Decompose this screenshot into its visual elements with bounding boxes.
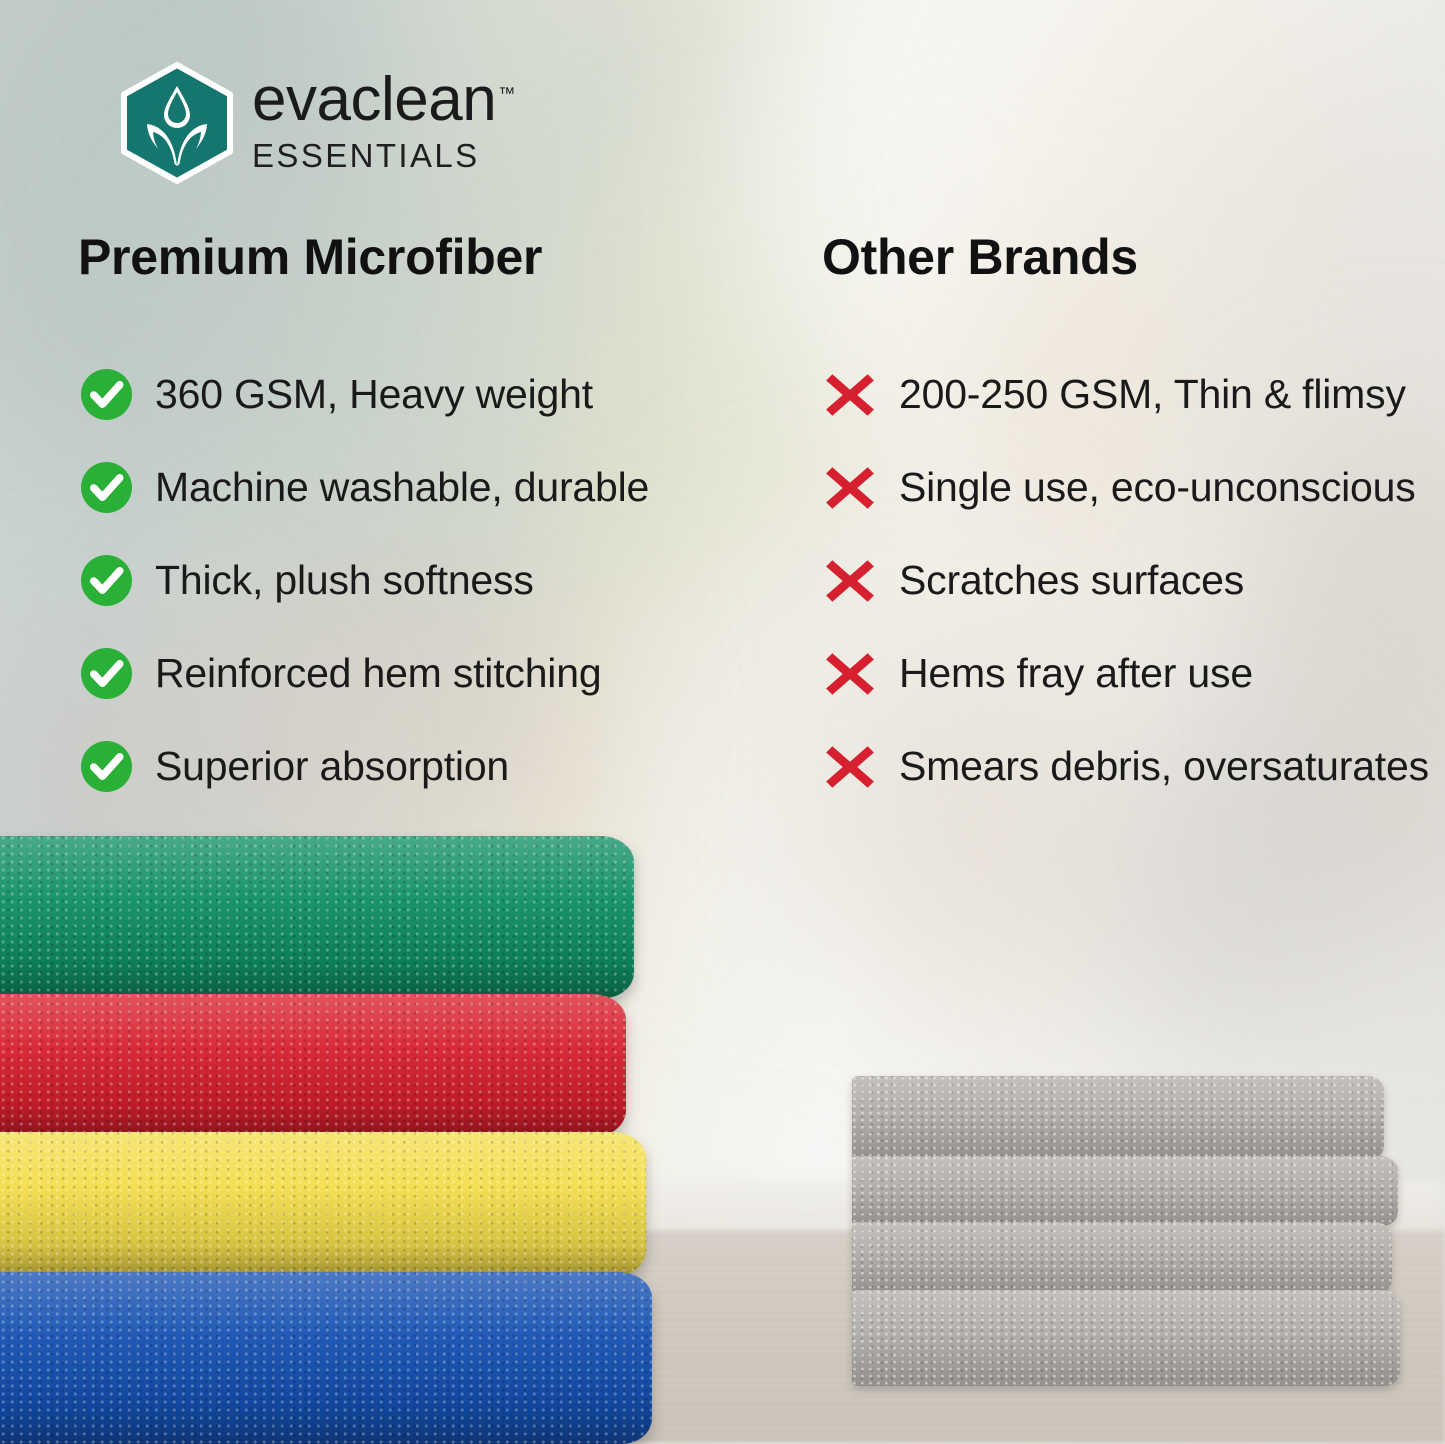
trademark-symbol: ™	[498, 84, 515, 103]
green-check-circle-icon	[78, 554, 134, 607]
list-item: Thick, plush softness	[78, 534, 768, 627]
colorful-towel-stack-image	[0, 836, 664, 1396]
feature-text: Superior absorption	[155, 746, 509, 787]
list-item: Scratches surfaces	[822, 534, 1432, 627]
list-item: Machine washable, durable	[78, 441, 768, 534]
green-check-circle-icon	[78, 368, 134, 421]
feature-text: Hems fray after use	[899, 653, 1253, 694]
gray-towel	[852, 1076, 1384, 1160]
other-brands-heading: Other Brands	[822, 228, 1432, 286]
red-x-icon	[822, 461, 878, 515]
brand-wordmark-text: evaclean	[252, 65, 496, 134]
feature-text: Machine washable, durable	[155, 467, 649, 508]
list-item: Reinforced hem stitching	[78, 627, 768, 720]
brand-logo: evaclean™ ESSENTIALS	[118, 62, 515, 184]
green-check-circle-icon	[78, 647, 134, 700]
premium-microfiber-column: Premium Microfiber 360 GSM, Heavy weight	[78, 228, 768, 813]
list-item: 200-250 GSM, Thin & flimsy	[822, 348, 1432, 441]
red-x-icon	[822, 647, 878, 701]
brand-wordmark: evaclean™	[252, 71, 515, 128]
feature-text: Single use, eco-unconscious	[899, 467, 1416, 508]
list-item: Single use, eco-unconscious	[822, 441, 1432, 534]
list-item: Smears debris, oversaturates	[822, 720, 1432, 813]
other-brands-feature-list: 200-250 GSM, Thin & flimsy Single use, e…	[822, 348, 1432, 813]
other-brands-column: Other Brands 200-250 GSM, Thin & flimsy …	[822, 228, 1432, 813]
red-towel	[0, 994, 626, 1136]
gray-towel	[852, 1290, 1400, 1386]
red-x-icon	[822, 740, 878, 794]
gray-towel	[852, 1222, 1392, 1294]
infographic-canvas: evaclean™ ESSENTIALS Premium Microfiber …	[0, 0, 1445, 1444]
feature-text: Smears debris, oversaturates	[899, 746, 1429, 787]
hexagon-leaf-droplet-icon	[118, 62, 236, 184]
premium-feature-list: 360 GSM, Heavy weight Machine washable, …	[78, 348, 768, 813]
green-towel	[0, 836, 634, 998]
gray-towel-stack-image	[852, 1076, 1412, 1406]
red-x-icon	[822, 368, 878, 422]
yellow-towel	[0, 1132, 646, 1276]
green-check-circle-icon	[78, 740, 134, 793]
feature-text: 200-250 GSM, Thin & flimsy	[899, 374, 1406, 415]
list-item: 360 GSM, Heavy weight	[78, 348, 768, 441]
gray-towel	[852, 1156, 1398, 1226]
feature-text: Thick, plush softness	[155, 560, 534, 601]
list-item: Superior absorption	[78, 720, 768, 813]
feature-text: Reinforced hem stitching	[155, 653, 601, 694]
feature-text: 360 GSM, Heavy weight	[155, 374, 593, 415]
brand-sub-wordmark: ESSENTIALS	[252, 137, 515, 175]
green-check-circle-icon	[78, 461, 134, 514]
feature-text: Scratches surfaces	[899, 560, 1244, 601]
blue-towel	[0, 1272, 652, 1444]
red-x-icon	[822, 554, 878, 608]
premium-microfiber-heading: Premium Microfiber	[78, 228, 768, 286]
list-item: Hems fray after use	[822, 627, 1432, 720]
